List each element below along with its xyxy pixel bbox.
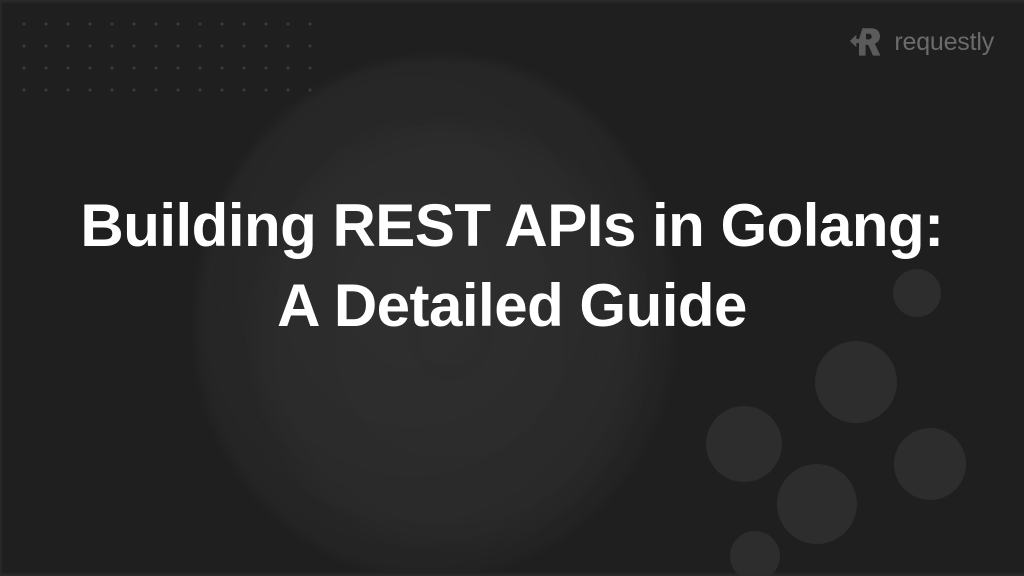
circle-6	[730, 531, 780, 576]
brand-logo: requestly	[849, 25, 994, 59]
circle-3	[706, 406, 782, 482]
slide-top-edge	[0, 0, 1024, 4]
circle-5	[777, 464, 857, 544]
presentation-slide: requestly Building REST APIs in Golang: …	[0, 0, 1024, 576]
slide-bottom-edge	[0, 572, 1024, 576]
background-blob-inner	[250, 120, 650, 550]
circle-4	[894, 428, 966, 500]
brand-wordmark: requestly	[894, 30, 994, 55]
slide-left-edge	[0, 0, 3, 576]
requestly-r-arrow-icon	[849, 25, 883, 59]
dot-grid-pattern	[8, 7, 328, 103]
circle-2	[815, 341, 897, 423]
circle-1	[893, 269, 941, 317]
